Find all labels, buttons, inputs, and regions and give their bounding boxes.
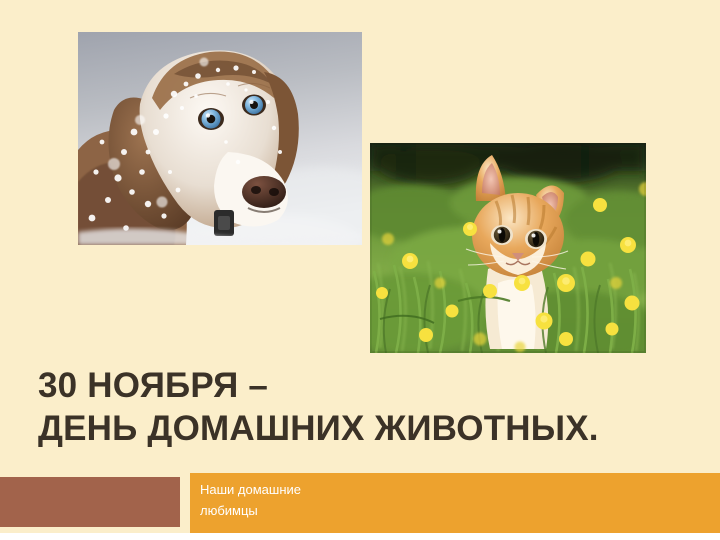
cat-photo-artwork (370, 143, 646, 353)
slide-title: 30 НОЯБРЯ – ДЕНЬ ДОМАШНИХ ЖИВОТНЫХ. (38, 364, 688, 450)
dog-collar-tag (214, 210, 234, 236)
slide-subtitle-line-2: любимцы (200, 500, 500, 521)
dog-eye-left (198, 108, 224, 130)
slide-title-line-2: ДЕНЬ ДОМАШНИХ ЖИВОТНЫХ. (38, 407, 688, 450)
bottom-white-strip (0, 533, 720, 540)
kitten-in-grass-photo[interactable] (370, 143, 646, 353)
dog-photo-artwork (78, 32, 362, 245)
slide-subtitle: Наши домашние любимцы (200, 479, 500, 521)
slide-title-line-1: 30 НОЯБРЯ – (38, 364, 688, 407)
dog-nose (242, 176, 286, 208)
brown-accent-bar (0, 477, 180, 527)
kitten-eye-left (491, 225, 513, 245)
presentation-slide: 30 НОЯБРЯ – ДЕНЬ ДОМАШНИХ ЖИВОТНЫХ. Наши… (0, 0, 720, 540)
dog-eye-right (242, 95, 266, 116)
slide-subtitle-line-1: Наши домашние (200, 479, 500, 500)
kitten-eye-right (525, 229, 547, 249)
dog-in-snow-photo[interactable] (78, 32, 362, 245)
